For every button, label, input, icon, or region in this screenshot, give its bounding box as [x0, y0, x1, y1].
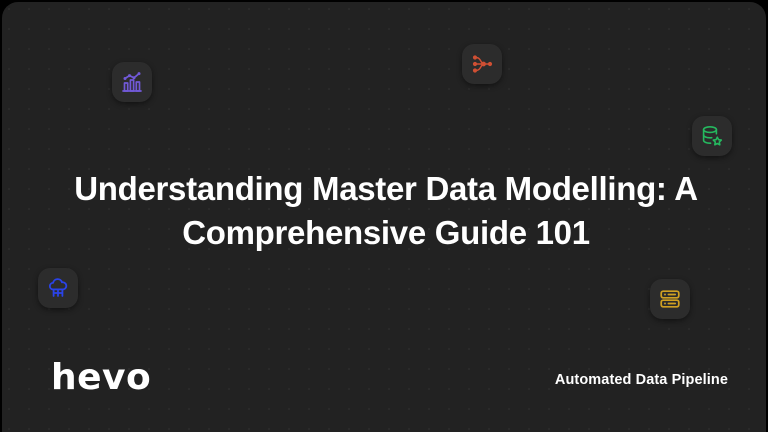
slide-canvas: Understanding Master Data Modelling: A C…	[0, 0, 768, 432]
server-rack-icon	[658, 287, 682, 311]
cloud-network-icon-card	[38, 268, 78, 308]
bar-chart-icon	[120, 70, 144, 94]
cloud-network-icon	[46, 276, 70, 300]
tagline-text: Automated Data Pipeline	[555, 372, 728, 388]
bar-chart-icon-card	[112, 62, 152, 102]
database-star-icon	[700, 124, 724, 148]
page-title: Understanding Master Data Modelling: A C…	[52, 167, 720, 254]
node-graph-icon-card	[462, 44, 502, 84]
hevo-logo: hevo	[51, 360, 151, 396]
database-star-icon-card	[692, 116, 732, 156]
content-panel: Understanding Master Data Modelling: A C…	[2, 2, 766, 432]
server-rack-icon-card	[650, 279, 690, 319]
node-graph-icon	[470, 52, 494, 76]
